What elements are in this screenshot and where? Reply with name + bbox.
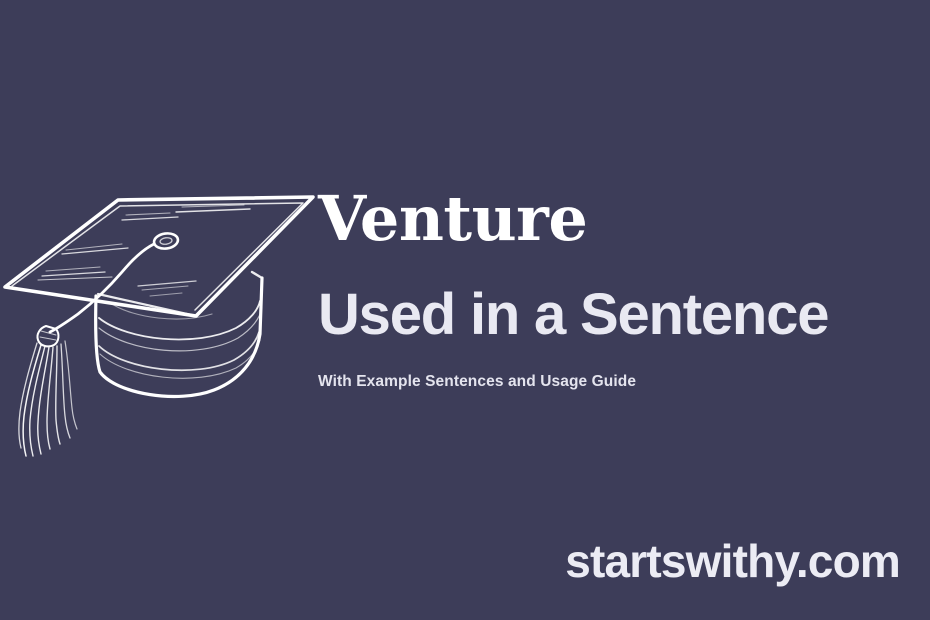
graduation-cap-icon (0, 168, 320, 458)
banner-text-block: Venture Used in a Sentence With Example … (318, 186, 918, 392)
page-headline: Used in a Sentence (318, 252, 918, 346)
page-subtitle: With Example Sentences and Usage Guide (318, 346, 918, 392)
word-title: Venture (318, 186, 918, 252)
word-banner: Venture Used in a Sentence With Example … (0, 0, 930, 620)
brand-wordmark: startswithy.com (565, 536, 900, 586)
